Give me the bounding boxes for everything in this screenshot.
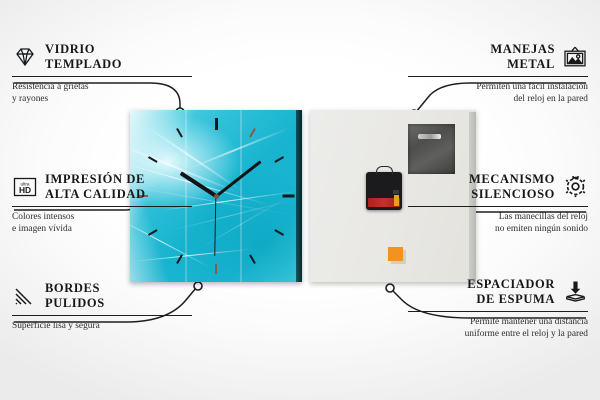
clock-tick-2 bbox=[274, 156, 284, 163]
framed-picture-icon bbox=[562, 44, 588, 70]
clock-tick-5 bbox=[249, 254, 256, 264]
feature-title: BORDES PULIDOS bbox=[45, 281, 105, 311]
feature-header: VIDRIO TEMPLADO bbox=[12, 42, 192, 72]
feature-mecanismo-silencioso: MECANISMO SILENCIOSO Las manecillas del … bbox=[408, 172, 588, 235]
polished-edges-icon bbox=[12, 283, 38, 309]
clock-tick-3 bbox=[283, 195, 295, 198]
clock-tick-6 bbox=[215, 264, 217, 274]
feature-header: MECANISMO SILENCIOSO bbox=[408, 172, 588, 202]
clock-tick-12 bbox=[215, 118, 218, 130]
feature-divider bbox=[408, 76, 588, 77]
clock-center-cap bbox=[214, 194, 219, 199]
hanging-loop bbox=[376, 166, 393, 175]
svg-text:HD: HD bbox=[19, 185, 31, 195]
feature-description: Resistencia a grietas y rayones bbox=[12, 81, 192, 105]
diamond-icon bbox=[12, 44, 38, 70]
feature-divider bbox=[408, 206, 588, 207]
feature-description: Superficie lisa y segura bbox=[12, 320, 192, 332]
time-set-dial bbox=[393, 190, 399, 194]
clock-tick-11 bbox=[176, 128, 183, 138]
feature-description: Colores intensos e imagen vívida bbox=[12, 211, 192, 235]
feature-title: VIDRIO TEMPLADO bbox=[45, 42, 122, 72]
battery-contact bbox=[394, 195, 399, 206]
feature-vidrio-templado: VIDRIO TEMPLADO Resistencia a grietas y … bbox=[12, 42, 192, 105]
clock-tick-4 bbox=[274, 229, 284, 236]
feature-espaciador-espuma: ESPACIADOR DE ESPUMA Permite mantener un… bbox=[408, 277, 588, 340]
feature-divider bbox=[12, 315, 192, 316]
orange-foam-spacer bbox=[388, 247, 403, 261]
metal-hanger-plate bbox=[408, 124, 455, 174]
connector-dot-espaciador bbox=[386, 284, 394, 292]
feature-header: ultra HD IMPRESIÓN DE ALTA CALIDAD bbox=[12, 172, 192, 202]
feature-description: Permiten una fácil instalación del reloj… bbox=[408, 81, 588, 105]
battery-compartment bbox=[368, 198, 400, 207]
clock-front-right-edge bbox=[296, 110, 302, 282]
clock-second-hand bbox=[214, 196, 216, 256]
feature-bordes-pulidos: BORDES PULIDOS Superficie lisa y segura bbox=[12, 281, 192, 332]
clock-tick-1 bbox=[249, 128, 256, 138]
feature-title: MECANISMO SILENCIOSO bbox=[469, 172, 555, 202]
quartz-movement bbox=[366, 172, 402, 210]
ultra-hd-icon: ultra HD bbox=[12, 174, 38, 200]
feature-header: BORDES PULIDOS bbox=[12, 281, 192, 311]
feature-description: Las manecillas del reloj no emiten ningú… bbox=[408, 211, 588, 235]
feature-description: Permite mantener una distancia uniforme … bbox=[408, 316, 588, 340]
foam-spacer-icon bbox=[562, 279, 588, 305]
gear-icon bbox=[562, 174, 588, 200]
feature-divider bbox=[408, 311, 588, 312]
feature-divider bbox=[12, 206, 192, 207]
feature-header: MANEJAS METAL bbox=[408, 42, 588, 72]
feature-impresion-alta-calidad: ultra HD IMPRESIÓN DE ALTA CALIDAD Color… bbox=[12, 172, 192, 235]
feature-divider bbox=[12, 76, 192, 77]
feature-header: ESPACIADOR DE ESPUMA bbox=[408, 277, 588, 307]
feature-title: MANEJAS METAL bbox=[490, 42, 555, 72]
product-feature-infographic: VIDRIO TEMPLADO Resistencia a grietas y … bbox=[0, 0, 600, 400]
feature-title: IMPRESIÓN DE ALTA CALIDAD bbox=[45, 172, 146, 202]
feature-title: ESPACIADOR DE ESPUMA bbox=[467, 277, 555, 307]
feature-manejas-metal: MANEJAS METAL Permiten una fácil instala… bbox=[408, 42, 588, 105]
hanger-slot bbox=[418, 134, 441, 139]
